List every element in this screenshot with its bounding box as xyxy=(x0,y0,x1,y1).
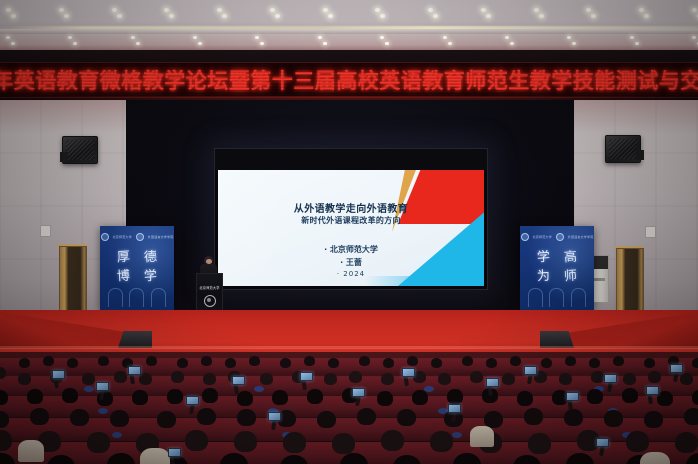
rollup-left-logo-text-a: 北京师范大学 xyxy=(113,235,132,239)
ceiling-light xyxy=(193,36,197,39)
audience-head xyxy=(114,371,127,383)
audience-head xyxy=(644,358,655,368)
ceiling-light xyxy=(481,8,486,12)
slide-title: 从外语教学走向外语教育 xyxy=(218,200,484,215)
ceiling-light xyxy=(385,42,389,45)
audience-head xyxy=(680,373,693,385)
audience-head xyxy=(438,373,451,385)
audience-head xyxy=(110,410,129,427)
audience-head xyxy=(383,358,394,368)
ceiling-light xyxy=(59,8,64,12)
raised-phone-screen xyxy=(402,368,415,377)
stage-front-edge xyxy=(0,346,698,349)
audience-head xyxy=(260,373,273,385)
raised-phone-screen xyxy=(96,382,109,391)
ceiling-light xyxy=(6,8,11,12)
ceiling-light xyxy=(11,42,15,45)
audience-head xyxy=(67,358,78,368)
ceiling-light xyxy=(375,8,380,12)
audience-head xyxy=(18,373,31,385)
ceiling-light xyxy=(260,42,264,45)
audience-head xyxy=(328,358,339,368)
raised-phone-screen xyxy=(128,366,141,375)
right-wall-shading xyxy=(574,100,698,134)
screen-letterbox-band xyxy=(215,149,487,170)
audience-head xyxy=(470,371,483,383)
audience-light-coat xyxy=(470,426,494,447)
left-speaker-grill xyxy=(66,140,94,160)
ceiling-light xyxy=(117,14,122,18)
college-seal-icon xyxy=(136,233,144,241)
audience-head xyxy=(510,356,521,366)
audience-head xyxy=(62,388,78,403)
rollup-left-calligraphy: 厚德博学 xyxy=(110,248,164,286)
audience-head xyxy=(87,432,110,453)
left-speaker-mount xyxy=(60,152,68,162)
audience-head xyxy=(692,390,698,405)
ceiling-light xyxy=(534,8,539,12)
audience-head xyxy=(203,373,216,385)
audience-head xyxy=(623,373,636,385)
audience-head xyxy=(27,389,43,404)
ceiling-light xyxy=(586,8,591,12)
audience-head xyxy=(626,431,649,452)
audience-head xyxy=(648,371,661,383)
audience-head xyxy=(524,408,543,425)
audience-head xyxy=(167,389,183,404)
slide-presenter-name: · 王蔷 xyxy=(218,257,484,268)
ceiling-light xyxy=(11,14,16,18)
audience-head xyxy=(381,430,404,451)
raised-phone-screen xyxy=(670,364,683,373)
ceiling-light xyxy=(131,36,135,39)
audience-head xyxy=(304,356,315,366)
raised-phone-screen xyxy=(52,370,65,379)
ceiling-light xyxy=(68,36,72,39)
ceiling-light xyxy=(217,8,222,12)
audience-head xyxy=(559,373,572,385)
ceiling-light xyxy=(275,14,280,18)
audience-head xyxy=(528,433,551,454)
audience-head xyxy=(622,388,638,403)
audience-head xyxy=(82,373,95,385)
rollup-right-logo-row: 北京师范大学 外国语言文学学院 xyxy=(520,233,594,241)
arch-shape xyxy=(571,288,586,307)
led-banner-text: 2024年英语教育微格教学论坛暨第十三届高校英语教育师范生教学技能测试与交流展示 xyxy=(0,65,698,95)
audience-head xyxy=(381,373,394,385)
ceiling-light xyxy=(380,14,385,18)
ceiling-light xyxy=(198,42,202,45)
ceiling-light xyxy=(428,8,433,12)
audience-head xyxy=(157,411,176,428)
audience-head xyxy=(332,433,355,454)
audience-head xyxy=(349,371,362,383)
audience-head xyxy=(98,356,109,366)
audience-head xyxy=(462,356,473,366)
audience-head xyxy=(324,373,337,385)
ceiling-light xyxy=(539,14,544,18)
right-wall-switch-plate xyxy=(645,226,656,238)
calligraphy-character: 德 xyxy=(136,247,164,268)
audience-head xyxy=(185,430,208,451)
audience-head xyxy=(201,356,212,366)
ceiling-lip xyxy=(0,29,698,34)
raised-phone-screen xyxy=(646,386,659,395)
podium-label: 北京师范大学 xyxy=(197,285,222,290)
slide-metadata-block: · 北京师范大学 · 王蔷 · 2024 xyxy=(218,242,484,280)
raised-phone-screen xyxy=(352,388,365,397)
arch-shape xyxy=(151,288,166,307)
presenter-face xyxy=(206,259,212,264)
ceiling-light xyxy=(567,36,571,39)
auditorium-photo: 2024年英语教育微格教学论坛暨第十三届高校英语教育师范生教学技能测试与交流展示 xyxy=(0,0,698,464)
raised-phone-screen xyxy=(596,438,609,447)
audience-head xyxy=(684,408,698,425)
calligraphy-character: 学 xyxy=(529,247,557,268)
arch-shape xyxy=(549,288,564,307)
audience-head xyxy=(657,391,673,406)
raised-phone-screen xyxy=(566,392,579,401)
audience-head xyxy=(565,356,576,366)
audience-head xyxy=(249,356,260,366)
ceiling-light xyxy=(169,14,174,18)
ceiling-light xyxy=(635,42,639,45)
college-seal-icon xyxy=(556,233,564,241)
audience-head xyxy=(146,356,157,366)
audience-head xyxy=(139,373,152,385)
projection-screen: 从外语教学走向外语教育 新时代外语课程改革的方向 · 北京师范大学 · 王蔷 ·… xyxy=(214,148,488,290)
audience-head xyxy=(307,389,323,404)
audience-head xyxy=(591,371,604,383)
rollup-right-arch-graphic xyxy=(525,285,589,307)
rollup-banner-left: 北京师范大学 外国语言文学学院 厚德博学 xyxy=(100,226,174,310)
raised-phone-screen xyxy=(186,396,199,405)
right-speaker-mount xyxy=(636,150,644,160)
seat-number-badge xyxy=(98,408,108,414)
audience-head xyxy=(70,409,89,426)
calligraphy-character: 厚 xyxy=(109,247,137,268)
audience-head xyxy=(237,391,253,406)
ceiling-light xyxy=(505,36,509,39)
audience-head xyxy=(283,432,306,453)
calligraphy-character: 师 xyxy=(556,266,584,287)
ceiling-light xyxy=(692,36,696,39)
audience-head xyxy=(589,358,600,368)
audience-head xyxy=(357,408,376,425)
ceiling-light xyxy=(644,14,649,18)
audience-head xyxy=(517,391,533,406)
audience-head xyxy=(486,358,497,368)
raised-phone-screen xyxy=(300,372,313,381)
audience-head xyxy=(564,409,583,426)
seat-number-badge xyxy=(112,432,122,438)
audience-head xyxy=(431,358,442,368)
ceiling-light xyxy=(73,42,77,45)
audience-head xyxy=(407,356,418,366)
calligraphy-character: 为 xyxy=(529,266,557,287)
raised-phone-screen xyxy=(604,374,617,383)
ceiling-light xyxy=(255,36,259,39)
audience-head xyxy=(502,373,515,385)
raised-phone-screen xyxy=(448,404,461,413)
seat-number-badge xyxy=(452,432,462,438)
raised-phone-screen xyxy=(268,412,281,421)
ceiling-light xyxy=(164,8,169,12)
ceiling-light xyxy=(6,36,10,39)
ceiling-light xyxy=(222,14,227,18)
ceiling-light xyxy=(510,42,514,45)
audience-head xyxy=(412,390,428,405)
ceiling-light xyxy=(136,42,140,45)
lectern-podium: 北京师范大学 xyxy=(196,273,223,315)
led-event-banner: 2024年英语教育微格教学论坛暨第十三届高校英语教育师范生教学技能测试与交流展示 xyxy=(0,62,698,98)
ceiling-light xyxy=(323,8,328,12)
ceiling-light xyxy=(639,8,644,12)
rollup-right-logo-text-b: 外国语言文学学院 xyxy=(568,235,594,239)
ceiling-light xyxy=(486,14,491,18)
ceiling-light xyxy=(112,8,117,12)
audience-head xyxy=(237,409,256,426)
audience-head xyxy=(377,391,393,406)
raised-phone-screen xyxy=(168,448,181,457)
ceiling-light xyxy=(443,36,447,39)
calligraphy-character: 高 xyxy=(556,247,584,268)
audience-head xyxy=(225,358,236,368)
ceiling-light xyxy=(630,36,634,39)
audience-head xyxy=(587,389,603,404)
ceiling-light xyxy=(591,14,596,18)
ceiling-light xyxy=(380,36,384,39)
arch-shape xyxy=(108,288,123,307)
left-wall-shading xyxy=(0,100,126,134)
slide-subtitle: 新时代外语课程改革的方向 xyxy=(218,215,484,226)
audience-head xyxy=(604,410,623,427)
ceiling-light xyxy=(323,42,327,45)
audience-head xyxy=(430,431,453,452)
audience-head xyxy=(177,358,188,368)
rollup-left-logo-row: 北京师范大学 外国语言文学学院 xyxy=(100,233,174,241)
audience-head xyxy=(19,358,30,368)
university-seal-icon xyxy=(101,233,109,241)
audience-head xyxy=(359,356,370,366)
ceiling-light xyxy=(572,42,576,45)
university-seal-icon xyxy=(521,233,529,241)
rollup-left-logo-text-b: 外国语言文学学院 xyxy=(148,235,174,239)
university-crest-icon xyxy=(204,295,216,307)
audience-head xyxy=(447,389,463,404)
calligraphy-character: 学 xyxy=(136,266,164,287)
presentation-slide: 从外语教学走向外语教育 新时代外语课程改革的方向 · 北京师范大学 · 王蔷 ·… xyxy=(218,170,484,286)
audience-head xyxy=(692,358,698,368)
audience-head xyxy=(280,358,291,368)
audience-head xyxy=(234,431,257,452)
audience-head xyxy=(132,390,148,405)
audience-light-coat xyxy=(140,448,170,464)
audience-head xyxy=(171,371,184,383)
audience-head xyxy=(397,409,416,426)
ceiling-light xyxy=(318,36,322,39)
audience-head xyxy=(675,432,698,453)
raised-phone-screen xyxy=(232,376,245,385)
rollup-banner-right: 北京师范大学 外国语言文学学院 学高为师 xyxy=(520,226,594,310)
audience-head xyxy=(202,388,218,403)
rollup-right-logo-text-a: 北京师范大学 xyxy=(533,235,552,239)
ceiling-light xyxy=(433,14,438,18)
raised-phone-screen xyxy=(486,378,499,387)
arch-shape xyxy=(129,288,144,307)
ceiling-light xyxy=(328,14,333,18)
audience-head xyxy=(541,358,552,368)
arch-shape xyxy=(528,288,543,307)
seat-number-badge xyxy=(254,386,264,392)
slide-organization: · 北京师范大学 xyxy=(218,244,484,255)
audience-head xyxy=(613,356,624,366)
ceiling-light xyxy=(64,14,69,18)
audience-head xyxy=(272,390,288,405)
audience-seating-area xyxy=(0,352,698,464)
rollup-left-arch-graphic xyxy=(105,285,169,307)
slide-year: · 2024 xyxy=(218,270,484,278)
rollup-right-calligraphy: 学高为师 xyxy=(530,248,584,286)
audience-light-coat xyxy=(640,452,670,464)
audience-head xyxy=(43,356,54,366)
seat-number-badge xyxy=(84,386,94,392)
audience-head xyxy=(317,411,336,428)
right-speaker-grill xyxy=(609,139,637,159)
left-wall-switch-plate xyxy=(40,225,51,237)
ceiling-light xyxy=(270,8,275,12)
audience-head xyxy=(30,408,49,425)
audience-light-coat xyxy=(18,440,44,462)
audience-head xyxy=(197,408,216,425)
raised-phone-screen xyxy=(524,366,537,375)
ceiling xyxy=(0,0,698,52)
calligraphy-character: 博 xyxy=(109,266,137,287)
audience-head xyxy=(644,411,663,428)
ceiling-light xyxy=(448,42,452,45)
ceiling-light xyxy=(692,8,697,12)
